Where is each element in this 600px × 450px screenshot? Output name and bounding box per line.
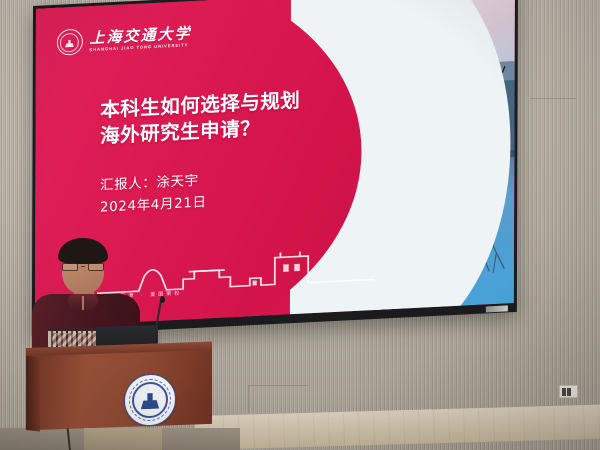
presenter-hair (58, 238, 108, 264)
podium (26, 348, 212, 434)
sjtu-podium-emblem-icon (124, 373, 176, 427)
wall-seam (248, 385, 249, 413)
slide-meta: 汇报人：涂天宇 2024年4月21日 (100, 170, 207, 219)
microphone-icon (160, 296, 165, 303)
slide-title: 本科生如何选择与规划 海外研究生申请？ (100, 88, 300, 150)
sweater-zipper (82, 296, 84, 310)
lecture-hall-scene: 上海交通大学 SHANGHAI JIAO TONG UNIVERSITY 本科生… (0, 0, 600, 450)
display-brand-label (486, 305, 508, 312)
sjtu-seal-icon (56, 29, 82, 56)
podium-base (84, 428, 162, 450)
wall-seam (248, 385, 308, 386)
glasses-icon (62, 262, 104, 271)
university-wordmark: 上海交通大学 SHANGHAI JIAO TONG UNIVERSITY (89, 26, 191, 52)
power-outlet-icon (559, 385, 578, 398)
wall-seam (530, 98, 576, 99)
podium-front-panel (36, 350, 212, 430)
podium-side-panel (26, 356, 40, 431)
